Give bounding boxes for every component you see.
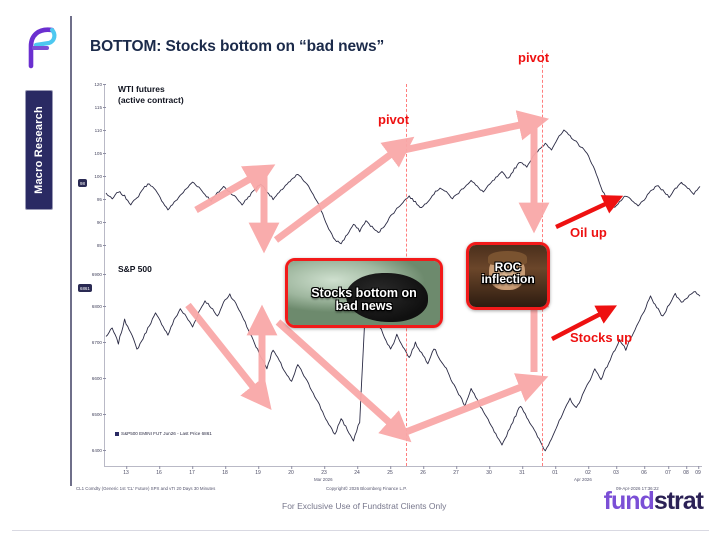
x-tick: 18 xyxy=(222,470,228,476)
x-tick: 06 xyxy=(641,470,647,476)
x-tick: 24 xyxy=(354,470,360,476)
x-tick: 03 xyxy=(613,470,619,476)
fundstrat-wordmark: fundstrat xyxy=(604,487,703,516)
callout-roc-caption: ROC inflection xyxy=(469,261,547,285)
footer-divider xyxy=(12,530,709,531)
legend-label: S&P500 EMINI FUT Jun26 - Last Price 6861 xyxy=(121,431,212,436)
x-tick: 19 xyxy=(255,470,261,476)
callout-stocks-bottom: Stocks bottom on bad news xyxy=(285,258,443,328)
x-tick: 27 xyxy=(453,470,459,476)
pivot-label-2: pivot xyxy=(518,50,549,65)
x-tick: 31 xyxy=(519,470,525,476)
callout-stocks-caption: Stocks bottom on bad news xyxy=(288,287,440,313)
x-period-label-mar: Mar 2026 xyxy=(314,477,333,482)
x-tick: 23 xyxy=(321,470,327,476)
x-tick: 01 xyxy=(552,470,558,476)
label-oil-up: Oil up xyxy=(570,225,607,240)
x-tick: 20 xyxy=(288,470,294,476)
x-tick: 07 xyxy=(665,470,671,476)
fundstrat-f-logo-icon xyxy=(22,24,62,70)
x-tick: 08 xyxy=(683,470,689,476)
rail-divider xyxy=(70,16,72,486)
x-tick: 17 xyxy=(189,470,195,476)
left-rail: Macro Research xyxy=(0,0,74,546)
x-tick: 16 xyxy=(156,470,162,476)
x-tick: 13 xyxy=(123,470,129,476)
x-tick: 25 xyxy=(387,470,393,476)
label-stocks-up: Stocks up xyxy=(570,330,632,345)
slide-root: Macro Research BOTTOM: Stocks bottom on … xyxy=(0,0,721,546)
callout-roc-inflection: ROC inflection xyxy=(466,242,550,310)
chart-copyright: Copyright© 2026 Bloomberg Finance L.P. xyxy=(326,486,407,491)
x-tick: 30 xyxy=(486,470,492,476)
x-tick: 26 xyxy=(420,470,426,476)
page-title: BOTTOM: Stocks bottom on “bad news” xyxy=(90,38,384,56)
sidebar-badge-label: Macro Research xyxy=(33,106,45,194)
chart-source-note: CL1 Comdty (Generic 1st 'CL' Future) SPX… xyxy=(76,486,215,491)
x-tick: 09 xyxy=(695,470,701,476)
chart-legend: S&P500 EMINI FUT Jun26 - Last Price 6861 xyxy=(112,430,215,437)
footer-disclaimer: For Exclusive Use of Fundstrat Clients O… xyxy=(282,501,446,511)
pivot-label-1: pivot xyxy=(378,112,409,127)
sidebar-badge-macro-research: Macro Research xyxy=(25,90,53,210)
legend-swatch-icon xyxy=(115,432,119,436)
x-tick: 02 xyxy=(585,470,591,476)
x-period-label-apr: Apr 2026 xyxy=(574,477,592,482)
